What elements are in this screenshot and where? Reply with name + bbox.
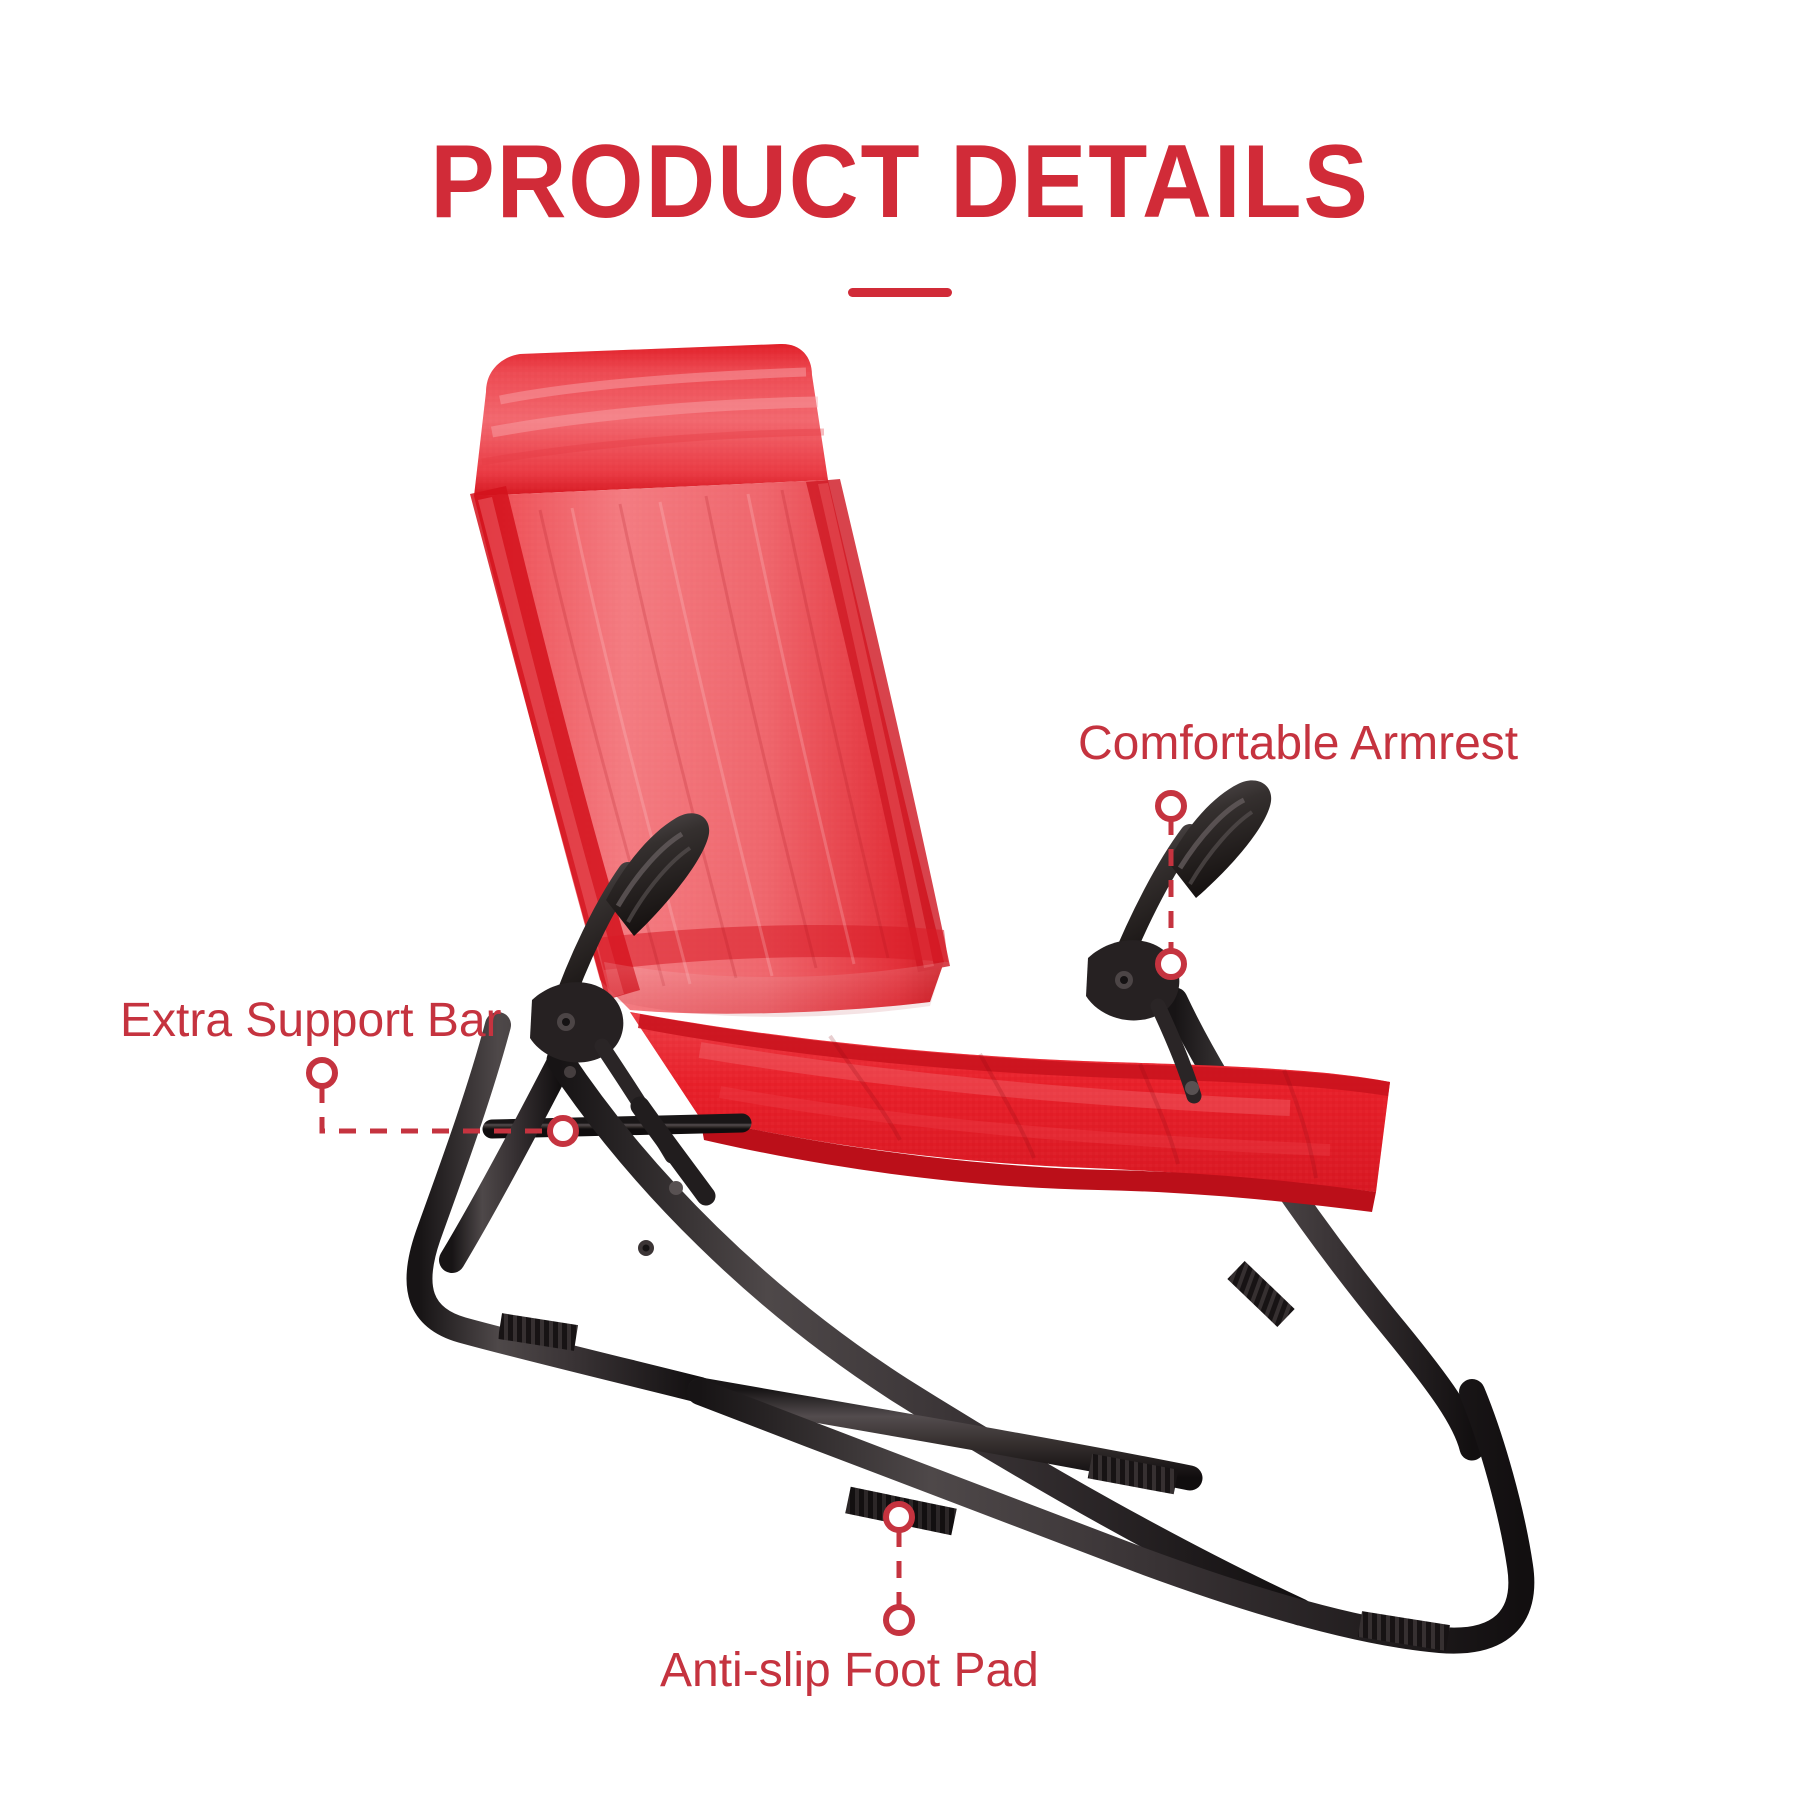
product-details-infographic: PRODUCT DETAILS Comfortable Armrest Extr…: [0, 0, 1800, 1800]
right-armrest-assembly: [1086, 780, 1271, 1096]
callout-label-extra-support-bar: Extra Support Bar: [120, 995, 502, 1048]
header: PRODUCT DETAILS: [0, 130, 1800, 297]
callout-label-anti-slip-foot-pad: Anti-slip Foot Pad: [660, 1645, 1039, 1698]
title-divider: [848, 288, 952, 297]
callout-label-comfortable-armrest: Comfortable Armrest: [1078, 718, 1518, 771]
backrest-mesh-sling: [470, 344, 950, 1017]
seat-mesh-sling: [630, 1012, 1390, 1212]
page-title: PRODUCT DETAILS: [63, 130, 1737, 234]
anti-slip-foot-pads: [500, 1270, 1448, 1638]
